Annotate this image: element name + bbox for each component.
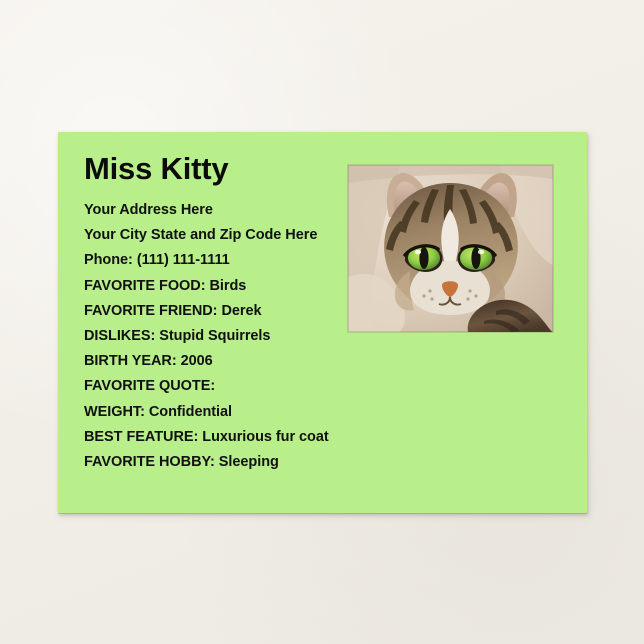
business-card: Miss Kitty Your Address Here Your City S… (58, 132, 587, 513)
detail-label: Your Address Here (84, 202, 213, 218)
detail-label: BIRTH YEAR: (84, 353, 177, 369)
detail-line: WEIGHT: Confidential (84, 400, 554, 425)
detail-value: 2006 (177, 353, 213, 369)
detail-line: BIRTH YEAR: 2006 (84, 349, 554, 374)
cat-photo (348, 165, 553, 332)
detail-label: Your City State and Zip Code Here (84, 227, 317, 243)
detail-value: Sleeping (215, 454, 279, 470)
detail-value: Luxurious fur coat (198, 429, 328, 445)
detail-label: FAVORITE HOBBY: (84, 454, 215, 470)
detail-label: DISLIKES: (84, 328, 155, 344)
detail-value: (111) 111-1111 (133, 252, 230, 268)
detail-label: BEST FEATURE: (84, 429, 198, 445)
detail-value: Birds (205, 278, 246, 294)
detail-value: Confidential (145, 404, 232, 420)
detail-value: Stupid Squirrels (155, 328, 270, 344)
detail-label: FAVORITE FOOD: (84, 278, 205, 294)
detail-value: Derek (217, 303, 261, 319)
detail-label: FAVORITE QUOTE: (84, 378, 215, 394)
detail-label: WEIGHT: (84, 404, 145, 420)
card-title: Miss Kitty (84, 152, 228, 186)
detail-line: FAVORITE HOBBY: Sleeping (84, 450, 554, 475)
detail-line: FAVORITE QUOTE: (84, 374, 554, 399)
detail-line: BEST FEATURE: Luxurious fur coat (84, 425, 554, 450)
detail-label: Phone: (84, 252, 133, 268)
detail-label: FAVORITE FRIEND: (84, 303, 217, 319)
